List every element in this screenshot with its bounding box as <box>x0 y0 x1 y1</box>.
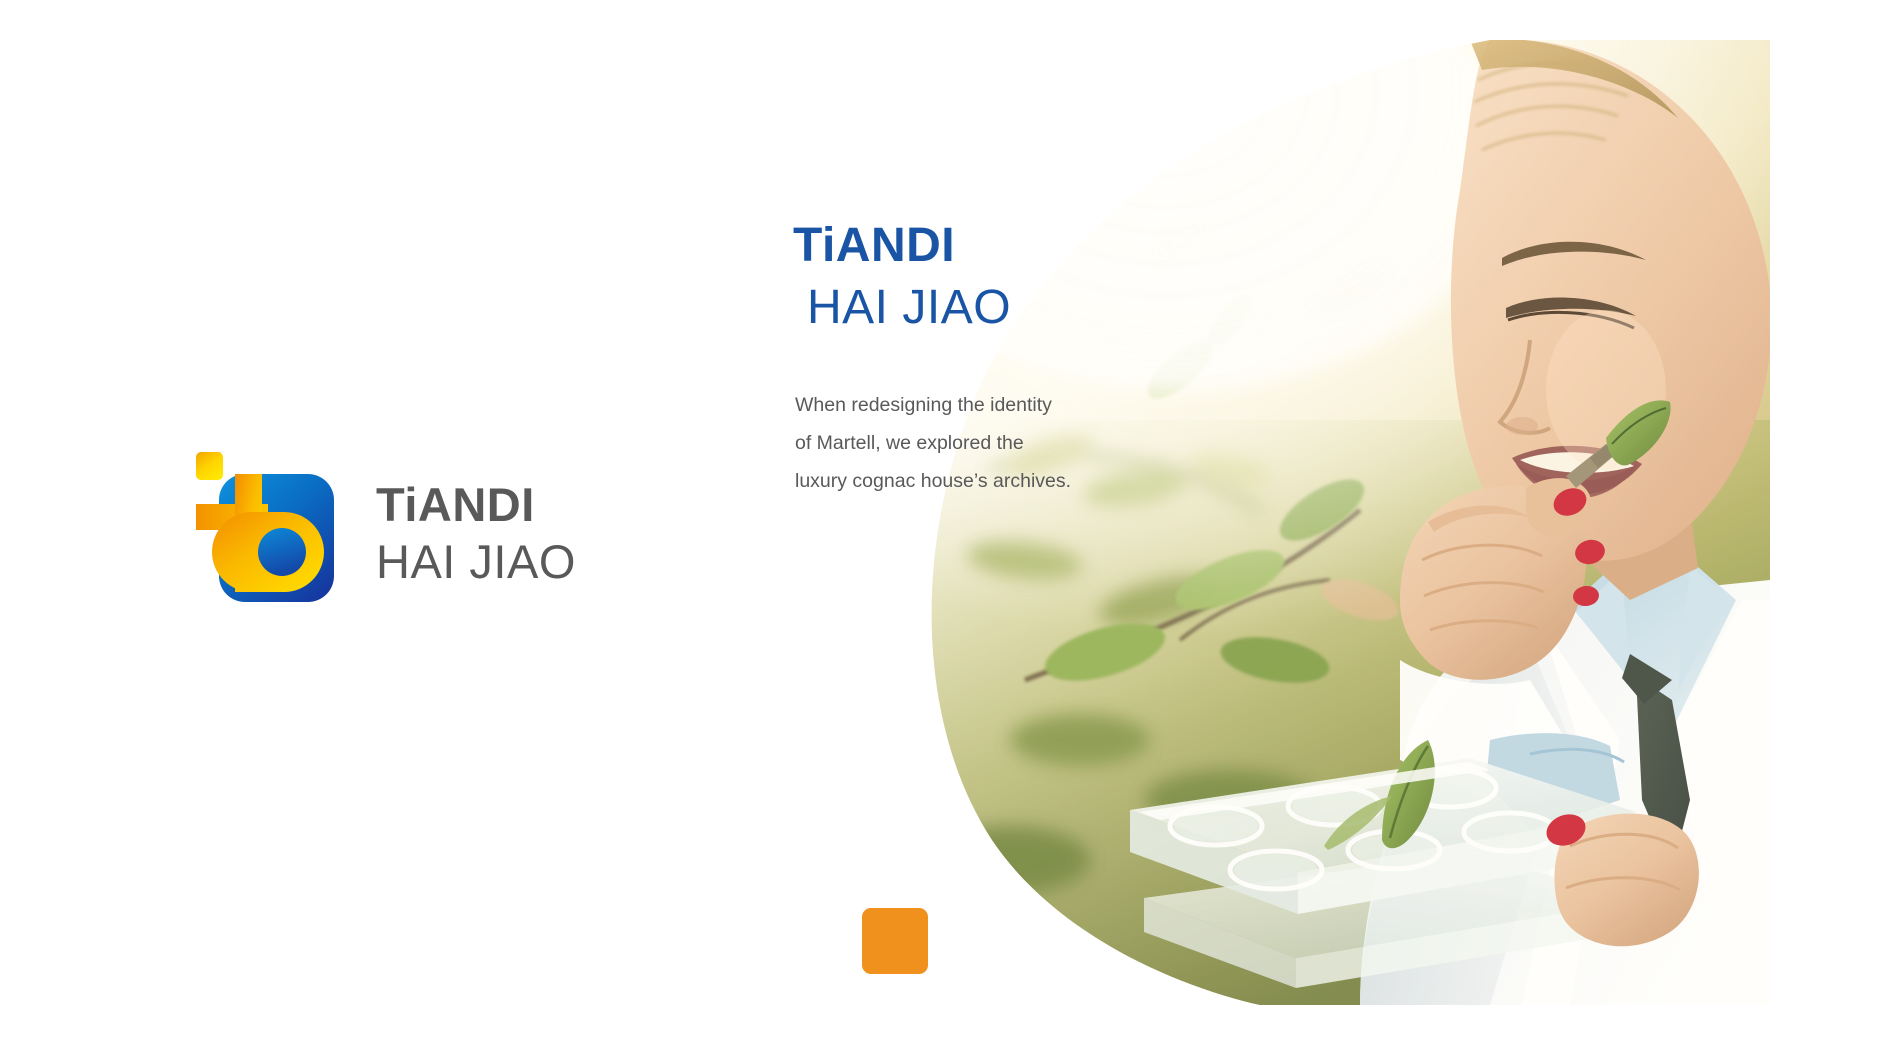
hero-heading-line1: TiANDI <box>793 222 1011 270</box>
logo-lockup: TiANDI HAI JIAO <box>196 452 576 617</box>
hero-paragraph-line-3: luxury cognac house’s archives. <box>795 462 1095 500</box>
tiandi-haijiao-logo-mark-icon <box>196 452 336 617</box>
orange-accent-square <box>862 908 928 974</box>
logo-wordmark-line1: TiANDI <box>376 481 576 528</box>
hero-heading: TiANDI HAI JIAO <box>793 222 1011 332</box>
hero-photo <box>930 40 1770 1005</box>
hero-photo-content <box>930 40 1770 1005</box>
logo-wordmark-line2: HAI JIAO <box>376 538 576 585</box>
hero-heading-line2: HAI JIAO <box>807 284 1011 332</box>
hero-paragraph-line-2: of Martell, we explored the <box>795 424 1095 462</box>
logo-wordmark: TiANDI HAI JIAO <box>376 481 576 589</box>
hero-paragraph-line-1: When redesigning the identity <box>795 386 1095 424</box>
hero-paragraph: When redesigning the identity of Martell… <box>795 386 1095 500</box>
